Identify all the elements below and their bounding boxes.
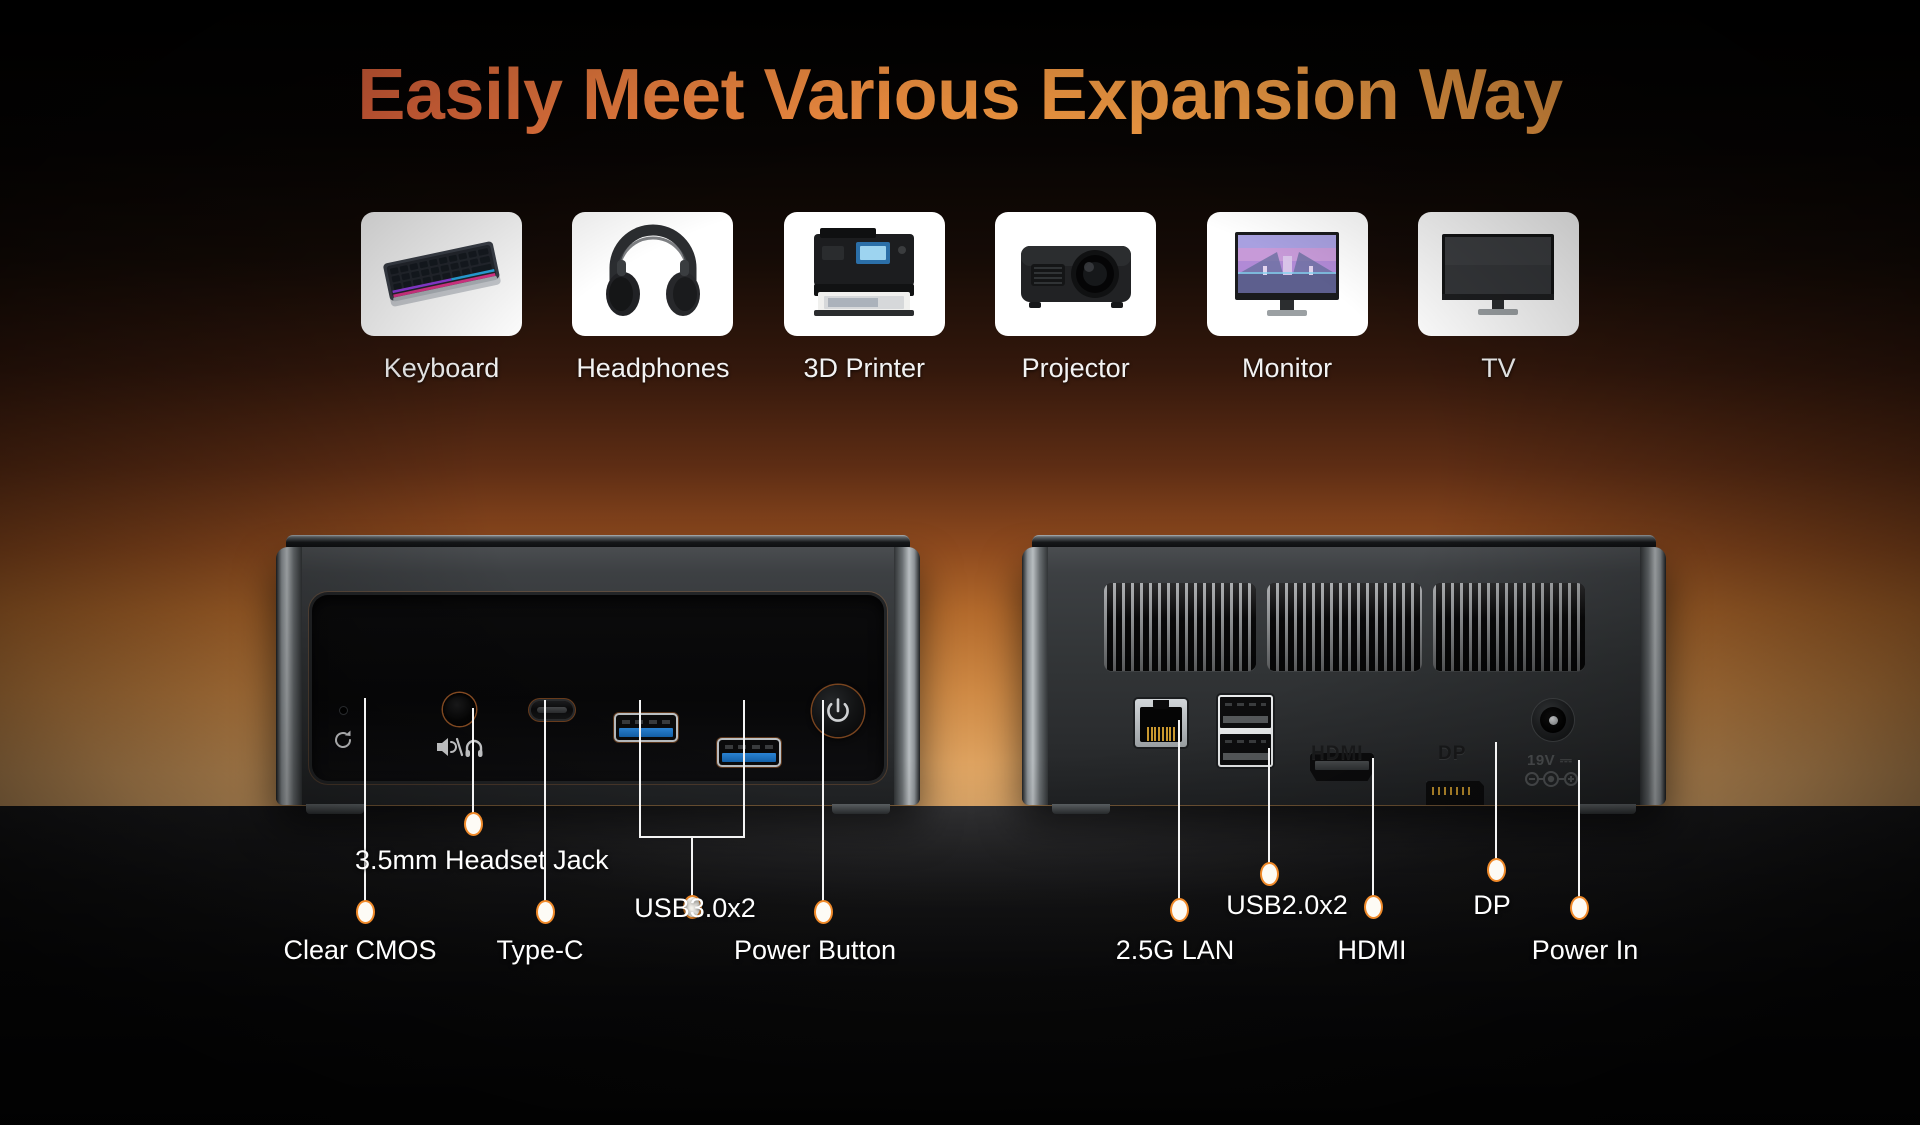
device-card [572,212,733,336]
device-item-projector[interactable]: Projector [994,212,1157,384]
printer-icon [798,222,930,326]
chassis-foot-right [1578,804,1636,814]
chassis-foot-left [306,804,364,814]
power-button[interactable] [812,685,864,737]
chassis-foot-left [1052,804,1110,814]
vent-grille-2 [1267,583,1422,671]
device-card [361,212,522,336]
device-item-headphones[interactable]: Headphones [571,212,734,384]
usb-c-port[interactable] [531,701,573,719]
device-card [995,212,1156,336]
vent-grille-3 [1433,583,1585,671]
chassis-body: HDMI DP 19V ⎓ [1022,547,1666,805]
usb-contacts [622,720,670,724]
device-label: TV [1481,353,1516,384]
usb2-port-1[interactable] [1220,697,1271,728]
device-card [1418,212,1579,336]
projector-icon [1009,222,1143,326]
dc-jack-hole [1540,707,1566,733]
background-ground [0,806,1920,1125]
voltage-marking: 19V ⎓ [1527,752,1572,769]
chassis-foot-right [832,804,890,814]
front-panel-inset [312,595,884,781]
device-label: Keyboard [384,353,500,384]
device-label: 3D Printer [804,353,926,384]
page-title: Easily Meet Various Expansion Way [0,58,1920,134]
device-item-keyboard[interactable]: Keyboard [360,212,523,384]
vent-grille-1 [1104,583,1256,671]
usb3-blue-insert [722,753,776,762]
device-label: Projector [1022,353,1130,384]
device-item-3d-printer[interactable]: 3D Printer [783,212,946,384]
displayport-port[interactable] [1426,781,1484,805]
dc-power-jack[interactable] [1532,699,1574,741]
promo-graphic: Easily Meet Various Expansion Way [0,0,1920,1125]
usb2-port-2[interactable] [1220,734,1271,765]
audio-jack-port[interactable] [443,693,476,726]
device-label: Monitor [1242,353,1332,384]
usb3-port-2[interactable] [719,740,779,765]
power-icon [823,696,853,726]
dc-jack-pin [1549,716,1558,725]
speaker-headphone-icon [434,735,486,759]
mini-pc-rear: HDMI DP 19V ⎓ [1022,535,1666,805]
device-label: Headphones [576,353,729,384]
usb-contacts [725,745,773,749]
usb3-blue-insert [619,728,673,737]
reset-arrow-icon [330,727,356,753]
ethernet-pins [1147,727,1175,741]
dp-marking: DP [1438,743,1466,765]
usb3-port-1[interactable] [616,715,676,740]
monitor-icon [1223,222,1351,326]
device-item-monitor[interactable]: Monitor [1206,212,1369,384]
keyboard-icon [372,222,512,326]
mini-pc-front [276,535,920,805]
headphones-icon [597,222,709,326]
ethernet-port[interactable] [1135,699,1187,747]
device-item-tv[interactable]: TV [1417,212,1580,384]
device-card [1207,212,1368,336]
usb2-port-stack[interactable] [1218,695,1273,767]
hdmi-marking: HDMI [1311,743,1364,765]
device-card [784,212,945,336]
chassis-body [276,547,920,805]
clear-cmos-pinhole[interactable] [340,707,347,714]
tv-icon [1434,222,1562,326]
dc-polarity-icon [1525,771,1581,787]
compatible-devices-strip: Keyboard Headphones [360,212,1580,402]
